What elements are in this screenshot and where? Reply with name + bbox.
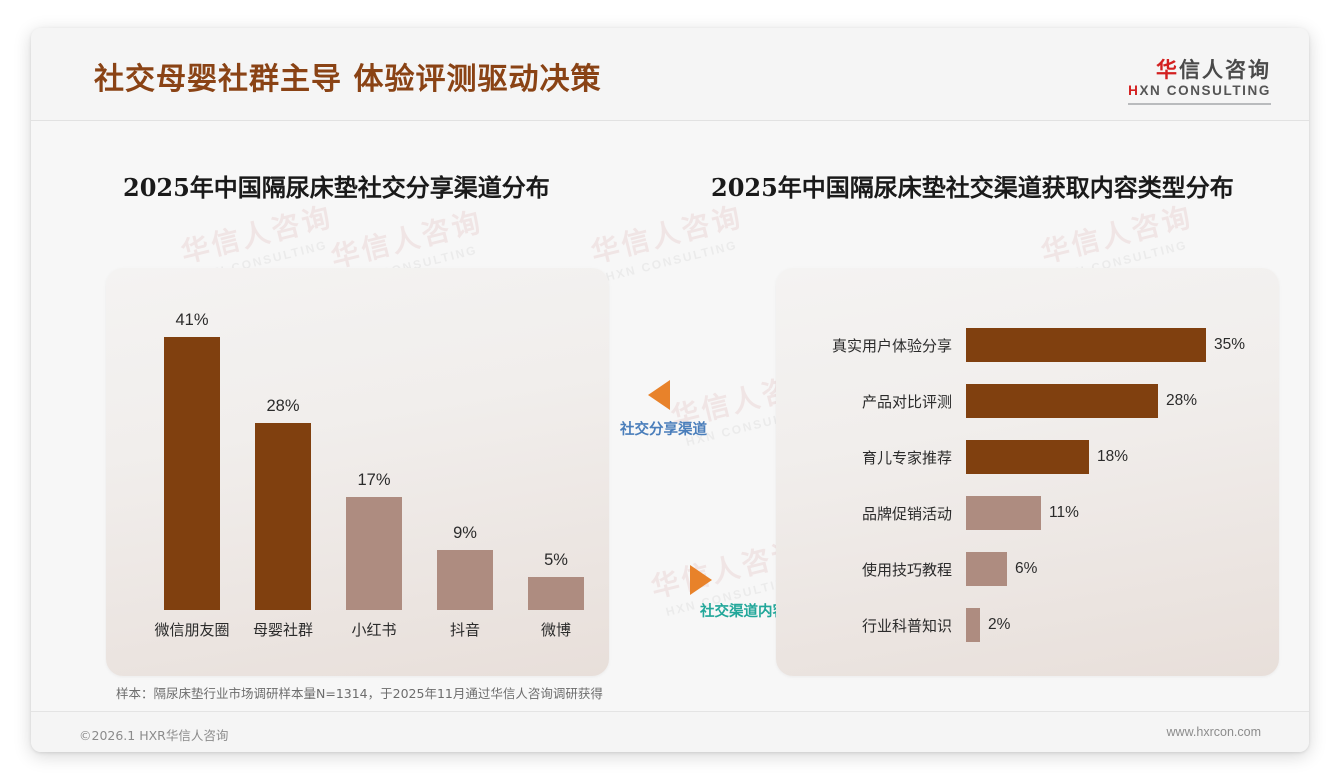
vertical-bar-chart: 41%微信朋友圈28%母婴社群17%小红书9%抖音5%微博: [130, 292, 585, 652]
bar-value-label: 18%: [1097, 448, 1128, 466]
connector-top-label-wrap: 社交分享渠道: [620, 415, 707, 439]
bar-category-label: 品牌促销活动: [776, 503, 952, 524]
sample-footnote: 样本：隔尿床垫行业市场调研样本量N=1314，于2025年11月通过华信人咨询调…: [116, 683, 603, 702]
bar-value-label: 2%: [988, 616, 1010, 634]
bar-rect: [966, 552, 1007, 586]
logo-en-rest: XN CONSULTING: [1139, 83, 1271, 98]
left-chart-card: 41%微信朋友圈28%母婴社群17%小红书9%抖音5%微博: [106, 268, 609, 676]
logo-english-text: HXN CONSULTING: [1128, 83, 1271, 98]
footer-copyright: ©2026.1 HXR华信人咨询: [79, 725, 228, 744]
bar-row: 行业科普知识2%: [776, 608, 1279, 642]
bar-value-label: 17%: [357, 471, 390, 490]
bar-value-label: 28%: [266, 397, 299, 416]
slide-footer: ©2026.1 HXR华信人咨询 www.hxrcon.com: [31, 711, 1309, 752]
logo-chinese-text: 华信人咨询: [1128, 59, 1271, 81]
right-chart-title: 2025年中国隔尿床垫社交渠道获取内容类型分布: [711, 168, 1234, 203]
bar-category-label: 行业科普知识: [776, 615, 952, 636]
slide-canvas: 社交母婴社群主导 体验评测驱动决策 华信人咨询 HXN CONSULTING 2…: [31, 28, 1309, 752]
triangle-right-icon: [690, 565, 712, 595]
connector-top-label: 社交分享渠道: [620, 418, 707, 439]
bar-category-label: 育儿专家推荐: [776, 447, 952, 468]
bar-category-label: 微博: [541, 619, 571, 640]
logo-rest-chars: 信人咨询: [1179, 58, 1271, 82]
bar-row: 品牌促销活动11%: [776, 496, 1279, 530]
connector-top: [648, 380, 670, 410]
bar-rect: [164, 337, 220, 610]
bar-rect: [966, 608, 980, 642]
bar-value-label: 28%: [1166, 392, 1197, 410]
bar-category-label: 小红书: [351, 619, 396, 640]
bar-rect: [346, 497, 402, 610]
bar-column: 5%微博: [528, 577, 584, 610]
bar-category-label: 母婴社群: [253, 619, 313, 640]
bar-value-label: 11%: [1049, 504, 1079, 522]
connector-bottom: [690, 565, 712, 595]
bar-rect: [528, 577, 584, 610]
bar-category-label: 真实用户体验分享: [776, 335, 952, 356]
bar-column: 17%小红书: [346, 497, 402, 610]
bar-rect: [255, 423, 311, 610]
bar-category-label: 产品对比评测: [776, 391, 952, 412]
left-chart-title: 2025年中国隔尿床垫社交分享渠道分布: [123, 168, 550, 203]
bar-column: 9%抖音: [437, 550, 493, 610]
bar-row: 真实用户体验分享35%: [776, 328, 1279, 362]
slide-header: 社交母婴社群主导 体验评测驱动决策 华信人咨询 HXN CONSULTING: [31, 28, 1309, 121]
logo-accent-char: 华: [1156, 58, 1179, 82]
company-logo: 华信人咨询 HXN CONSULTING: [1128, 59, 1271, 105]
bar-rect: [966, 328, 1206, 362]
bar-rect: [966, 440, 1089, 474]
bar-column: 41%微信朋友圈: [164, 337, 220, 610]
bar-category-label: 抖音: [450, 619, 480, 640]
logo-en-accent: H: [1128, 83, 1139, 98]
bar-category-label: 使用技巧教程: [776, 559, 952, 580]
triangle-left-icon: [648, 380, 670, 410]
watermark: 华信人咨询HXN CONSULTING: [587, 195, 751, 286]
bar-category-label: 微信朋友圈: [154, 619, 229, 640]
bar-value-label: 9%: [453, 524, 477, 543]
footer-website: www.hxrcon.com: [1167, 725, 1261, 739]
bar-row: 产品对比评测28%: [776, 384, 1279, 418]
bar-row: 使用技巧教程6%: [776, 552, 1279, 586]
bar-column: 28%母婴社群: [255, 423, 311, 610]
bar-value-label: 41%: [175, 311, 208, 330]
bar-value-label: 6%: [1015, 560, 1037, 578]
page-title: 社交母婴社群主导 体验评测驱动决策: [94, 54, 601, 98]
horizontal-bar-chart: 真实用户体验分享35%产品对比评测28%育儿专家推荐18%品牌促销活动11%使用…: [776, 268, 1279, 676]
bar-value-label: 5%: [544, 551, 568, 570]
bar-rect: [966, 496, 1041, 530]
bar-value-label: 35%: [1214, 336, 1245, 354]
right-chart-card: 真实用户体验分享35%产品对比评测28%育儿专家推荐18%品牌促销活动11%使用…: [776, 268, 1279, 676]
bar-row: 育儿专家推荐18%: [776, 440, 1279, 474]
bar-rect: [437, 550, 493, 610]
bar-rect: [966, 384, 1158, 418]
